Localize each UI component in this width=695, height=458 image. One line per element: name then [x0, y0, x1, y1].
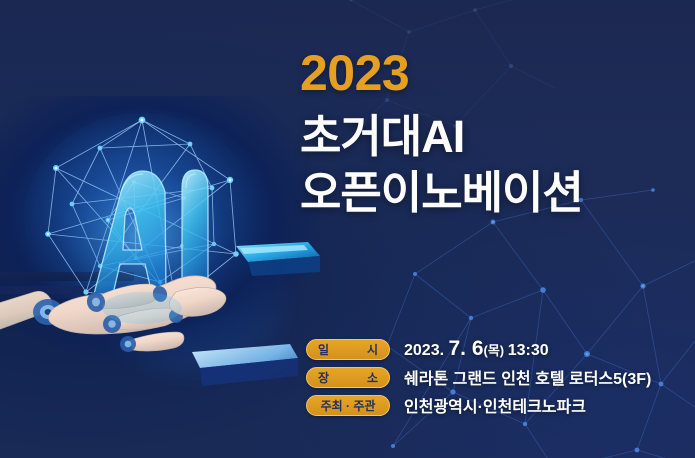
glow-panel-right: [236, 242, 320, 276]
info-value-datetime: 2023. 7. 6(목) 13:30: [404, 337, 549, 361]
info-row-organizer: 주최 · 주관 인천광역시·인천테크노파크: [306, 393, 676, 417]
poster-year: 2023: [300, 48, 680, 98]
info-label-datetime-a: 일: [318, 341, 329, 358]
datetime-time: 13:30: [508, 342, 549, 359]
event-info-list: 일 시 2023. 7. 6(목) 13:30 장 소 쉐라톤 그랜드 인천 호…: [306, 337, 676, 421]
info-row-datetime: 일 시 2023. 7. 6(목) 13:30: [306, 337, 676, 361]
info-label-venue-a: 장: [318, 369, 329, 386]
datetime-weekday: (목): [484, 343, 508, 358]
info-label-venue-b: 소: [367, 369, 378, 386]
info-label-venue: 장 소: [306, 367, 390, 388]
info-value-venue: 쉐라톤 그랜드 인천 호텔 로터스5(3F): [404, 365, 651, 389]
info-row-venue: 장 소 쉐라톤 그랜드 인천 호텔 로터스5(3F): [306, 365, 676, 389]
glow-panel-lower: [192, 344, 298, 386]
title-block: 2023 초거대AI 오픈이노베이션: [300, 48, 680, 219]
info-label-organizer-a: 주최 · 주관: [321, 397, 376, 414]
info-label-datetime-b: 시: [367, 341, 378, 358]
event-poster: 2023 초거대AI 오픈이노베이션 일 시 2023. 7. 6(목) 13:…: [0, 0, 695, 458]
datetime-day: 7. 6: [448, 337, 483, 360]
datetime-prefix: 2023.: [404, 342, 448, 359]
info-label-datetime: 일 시: [306, 339, 390, 360]
artwork-robot-hand-ai: [0, 96, 320, 396]
info-label-organizer: 주최 · 주관: [306, 395, 390, 416]
poster-headline: 초거대AI 오픈이노베이션: [300, 111, 680, 219]
headline-line-1: 초거대AI: [300, 111, 680, 163]
info-value-organizer: 인천광역시·인천테크노파크: [404, 393, 586, 417]
headline-line-2: 오픈이노베이션: [300, 167, 680, 219]
